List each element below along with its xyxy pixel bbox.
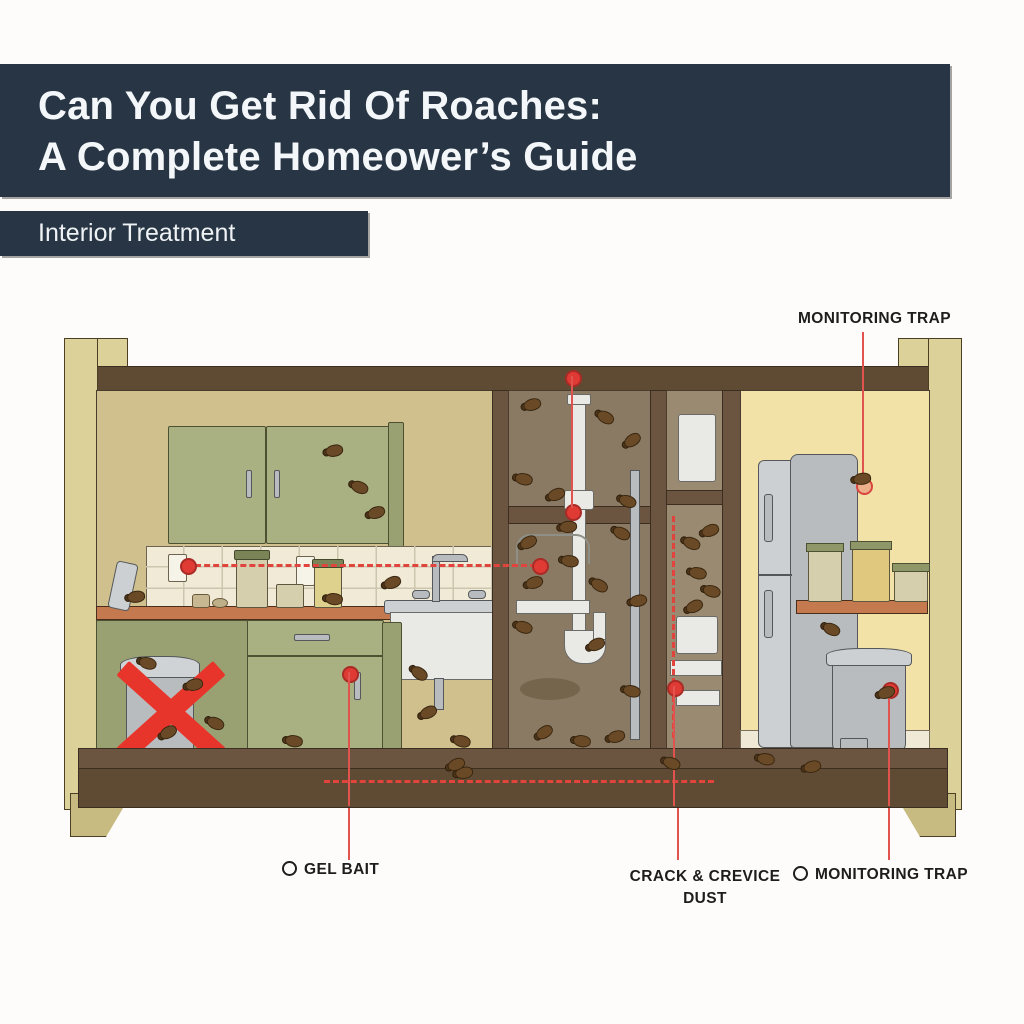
cabinet-handle-right bbox=[274, 470, 280, 498]
callout-gel-bait: GEL BAIT bbox=[282, 861, 379, 879]
leader-segment-monitoring-top bbox=[862, 338, 864, 484]
kitchen-cutaway-illustration bbox=[64, 338, 960, 835]
callout-label: MONITORING TRAP bbox=[815, 866, 968, 883]
faucet-handle-left bbox=[412, 590, 430, 599]
floor-bottom-band bbox=[78, 768, 948, 808]
dashed-line-backsplash bbox=[186, 564, 536, 567]
leader-segment-trash-right bbox=[888, 688, 890, 806]
chase-shelf bbox=[666, 490, 724, 505]
leader-dot-crack-dust bbox=[667, 680, 684, 697]
right-shelf bbox=[796, 600, 928, 614]
p-trap-horizontal bbox=[516, 600, 590, 614]
leader-segment-gel-bait bbox=[348, 672, 350, 806]
jar-large-lid bbox=[234, 550, 270, 560]
callout-label: MONITORING TRAP bbox=[798, 310, 951, 327]
shelf-jar-1-lid bbox=[806, 543, 844, 552]
crumbs-cluster bbox=[192, 594, 210, 608]
title-line-2: A Complete Homeower’s Guide bbox=[38, 137, 638, 177]
leader-segment-cavity bbox=[571, 376, 573, 508]
shutoff-valve-body bbox=[676, 616, 718, 654]
water-stain bbox=[520, 678, 580, 700]
leader-dot-backsplash-left bbox=[180, 558, 197, 575]
frame-left-post bbox=[64, 338, 98, 810]
leader-dot-cavity-top bbox=[565, 370, 582, 387]
faucet-handle-right bbox=[468, 590, 486, 599]
refrigerator-door-split bbox=[758, 574, 792, 576]
dashed-line-floor bbox=[324, 780, 714, 783]
faucet-spout bbox=[432, 556, 440, 602]
cabinet-handle-left bbox=[246, 470, 252, 498]
callout-label: GEL BAIT bbox=[304, 861, 379, 878]
food-scrap bbox=[212, 598, 228, 608]
upper-cabinet-right-door bbox=[266, 426, 390, 544]
subtitle-text: Interior Treatment bbox=[38, 211, 368, 256]
drawer-pull bbox=[294, 634, 330, 641]
callout-crack-crevice-dust: CRACK & CREVICE DUST bbox=[610, 866, 800, 911]
frame-right-post bbox=[928, 338, 962, 810]
refrigerator-handle-upper bbox=[764, 494, 773, 542]
trash-can-right-lid bbox=[826, 648, 912, 666]
infographic-canvas: Can You Get Rid Of Roaches: A Complete H… bbox=[0, 0, 1024, 1024]
subtitle-banner: Interior Treatment bbox=[0, 211, 368, 256]
valve-pipe-tee bbox=[670, 660, 722, 676]
shelf-jar-1 bbox=[808, 548, 842, 602]
jar-small bbox=[276, 584, 304, 608]
electrical-panel-box bbox=[678, 414, 716, 482]
chase-stud-right bbox=[722, 390, 742, 787]
leader-dot-gel-bait bbox=[342, 666, 359, 683]
callout-monitoring-trap-top: MONITORING TRAP bbox=[798, 310, 951, 328]
callout-label-line2: DUST bbox=[610, 888, 800, 910]
circle-marker-icon bbox=[282, 861, 297, 876]
refrigerator-handle-lower bbox=[764, 590, 773, 638]
callout-label-line1: CRACK & CREVICE bbox=[610, 866, 800, 888]
shelf-jar-3-lid bbox=[892, 563, 930, 572]
callout-monitoring-trap-bottom: MONITORING TRAP bbox=[793, 866, 968, 884]
faucet-neck bbox=[432, 554, 468, 562]
leader-segment-crack-dust bbox=[673, 686, 675, 806]
title-line-1: Can You Get Rid Of Roaches: bbox=[38, 86, 602, 126]
title-banner: Can You Get Rid Of Roaches: A Complete H… bbox=[0, 64, 950, 197]
roach bbox=[321, 591, 344, 605]
shelf-jar-2 bbox=[852, 546, 890, 602]
shelf-jar-3 bbox=[894, 568, 928, 602]
circle-marker-icon bbox=[793, 866, 808, 881]
shelf-jar-2-lid bbox=[850, 541, 892, 550]
roach bbox=[555, 519, 578, 533]
upper-cabinet-side-panel bbox=[388, 422, 404, 548]
